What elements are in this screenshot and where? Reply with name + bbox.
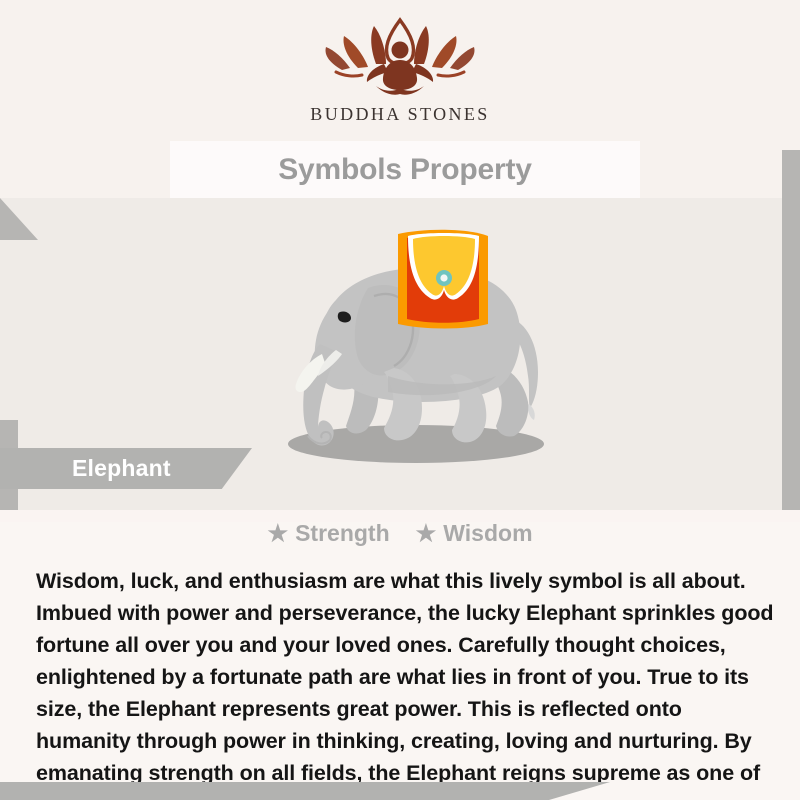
attribute-item-wisdom: ★ Wisdom bbox=[416, 520, 533, 547]
symbol-property-card: BUDDHA STONES Symbols Property bbox=[0, 0, 800, 800]
lotus-meditation-logo-icon bbox=[310, 14, 490, 102]
elephant-illustration-icon bbox=[238, 226, 583, 482]
star-icon: ★ bbox=[416, 522, 437, 545]
attribute-label-wisdom: Wisdom bbox=[443, 520, 532, 547]
attribute-label-strength: Strength bbox=[295, 520, 390, 547]
attribute-item-strength: ★ Strength bbox=[267, 520, 389, 547]
brand-logo: BUDDHA STONES bbox=[0, 14, 800, 134]
brand-name: BUDDHA STONES bbox=[310, 104, 489, 125]
page-title: Symbols Property bbox=[278, 153, 532, 187]
footer-accent-bar bbox=[0, 782, 610, 800]
symbol-name-banner: Elephant bbox=[0, 448, 252, 489]
symbol-name: Elephant bbox=[72, 455, 171, 482]
attribute-list: ★ Strength ★ Wisdom bbox=[0, 516, 800, 550]
symbol-description: Wisdom, luck, and enthusiasm are what th… bbox=[36, 565, 776, 800]
star-icon: ★ bbox=[267, 522, 288, 545]
title-band: Symbols Property bbox=[170, 141, 640, 198]
accent-rail-right bbox=[782, 150, 800, 512]
